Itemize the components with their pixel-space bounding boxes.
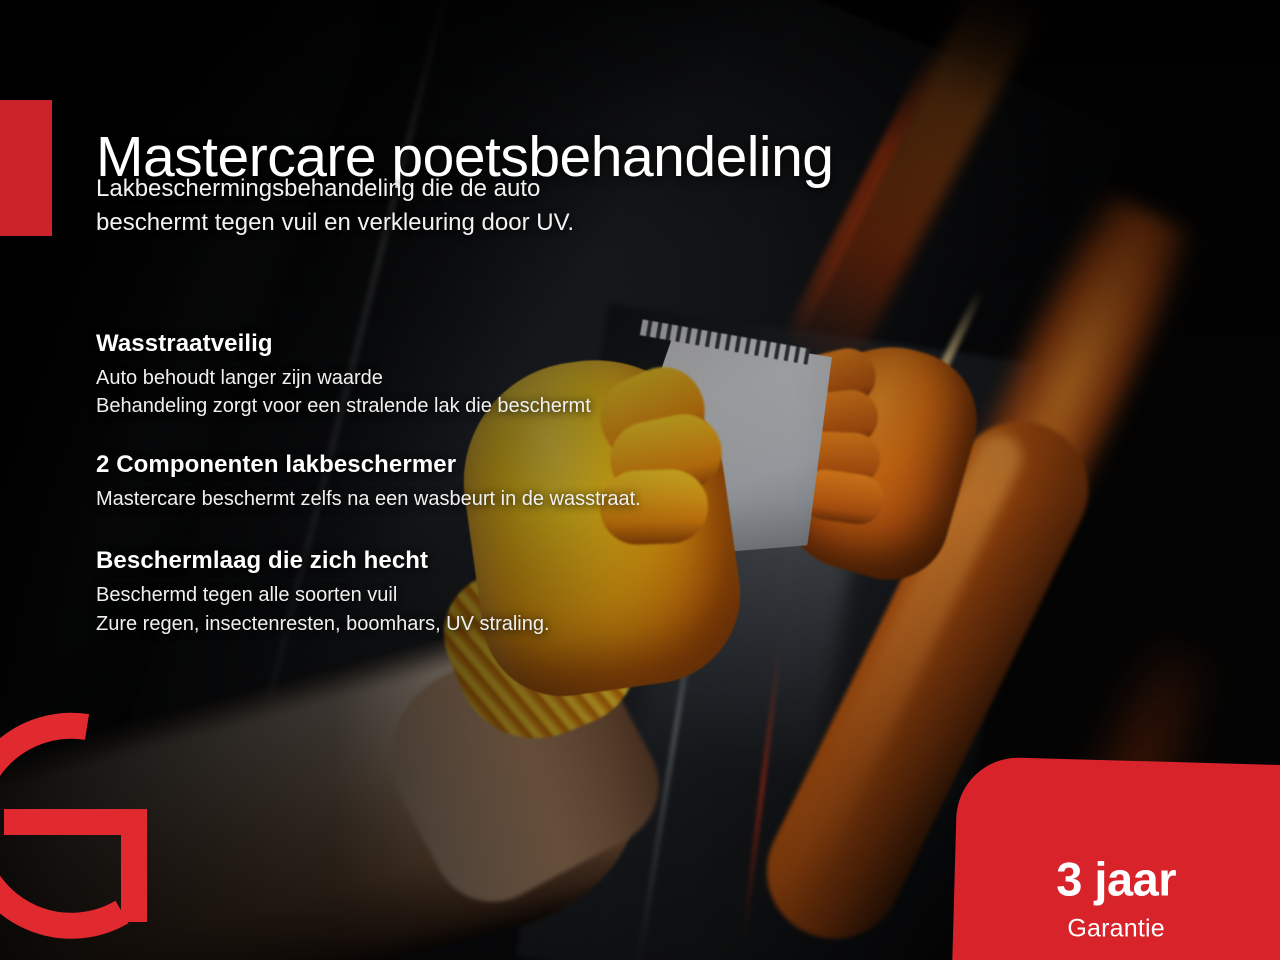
feature-line: Zure regen, insectenresten, boomhars, UV…	[96, 610, 836, 638]
promo-banner: Mastercare poetsbehandeling Lakbeschermi…	[0, 0, 1280, 960]
feature-title: 2 Componenten lakbeschermer	[96, 451, 836, 479]
feature-item-lakbeschermer: 2 Componenten lakbeschermer Mastercare b…	[96, 451, 836, 513]
accent-bar	[0, 100, 52, 236]
feature-line: Behandeling zorgt voor een stralende lak…	[96, 392, 836, 420]
feature-line: Mastercare beschermt zelfs na een wasbeu…	[96, 485, 836, 513]
feature-line: Auto behoudt langer zijn waarde	[96, 364, 836, 392]
warranty-badge: 3 jaar Garantie	[952, 756, 1280, 960]
g-arrow-logo-icon	[0, 672, 212, 960]
feature-title: Beschermlaag die zich hecht	[96, 547, 836, 575]
feature-item-wasstraatveilig: Wasstraatveilig Auto behoudt langer zijn…	[96, 330, 836, 421]
feature-line: Beschermd tegen alle soorten vuil	[96, 581, 836, 609]
warranty-badge-sublabel: Garantie	[1067, 914, 1165, 943]
warranty-badge-content: 3 jaar Garantie	[955, 760, 1277, 960]
page-subtitle: Lakbeschermingsbehandeling die de auto b…	[96, 172, 574, 240]
page-subtitle-line-2: beschermt tegen vuil en verkleuring door…	[96, 206, 574, 240]
page-subtitle-line-1: Lakbeschermingsbehandeling die de auto	[96, 172, 574, 206]
feature-item-beschermlaag: Beschermlaag die zich hecht Beschermd te…	[96, 547, 836, 638]
warranty-badge-headline: 3 jaar	[1056, 855, 1176, 902]
feature-list: Wasstraatveilig Auto behoudt langer zijn…	[96, 330, 836, 664]
feature-title: Wasstraatveilig	[96, 330, 836, 358]
